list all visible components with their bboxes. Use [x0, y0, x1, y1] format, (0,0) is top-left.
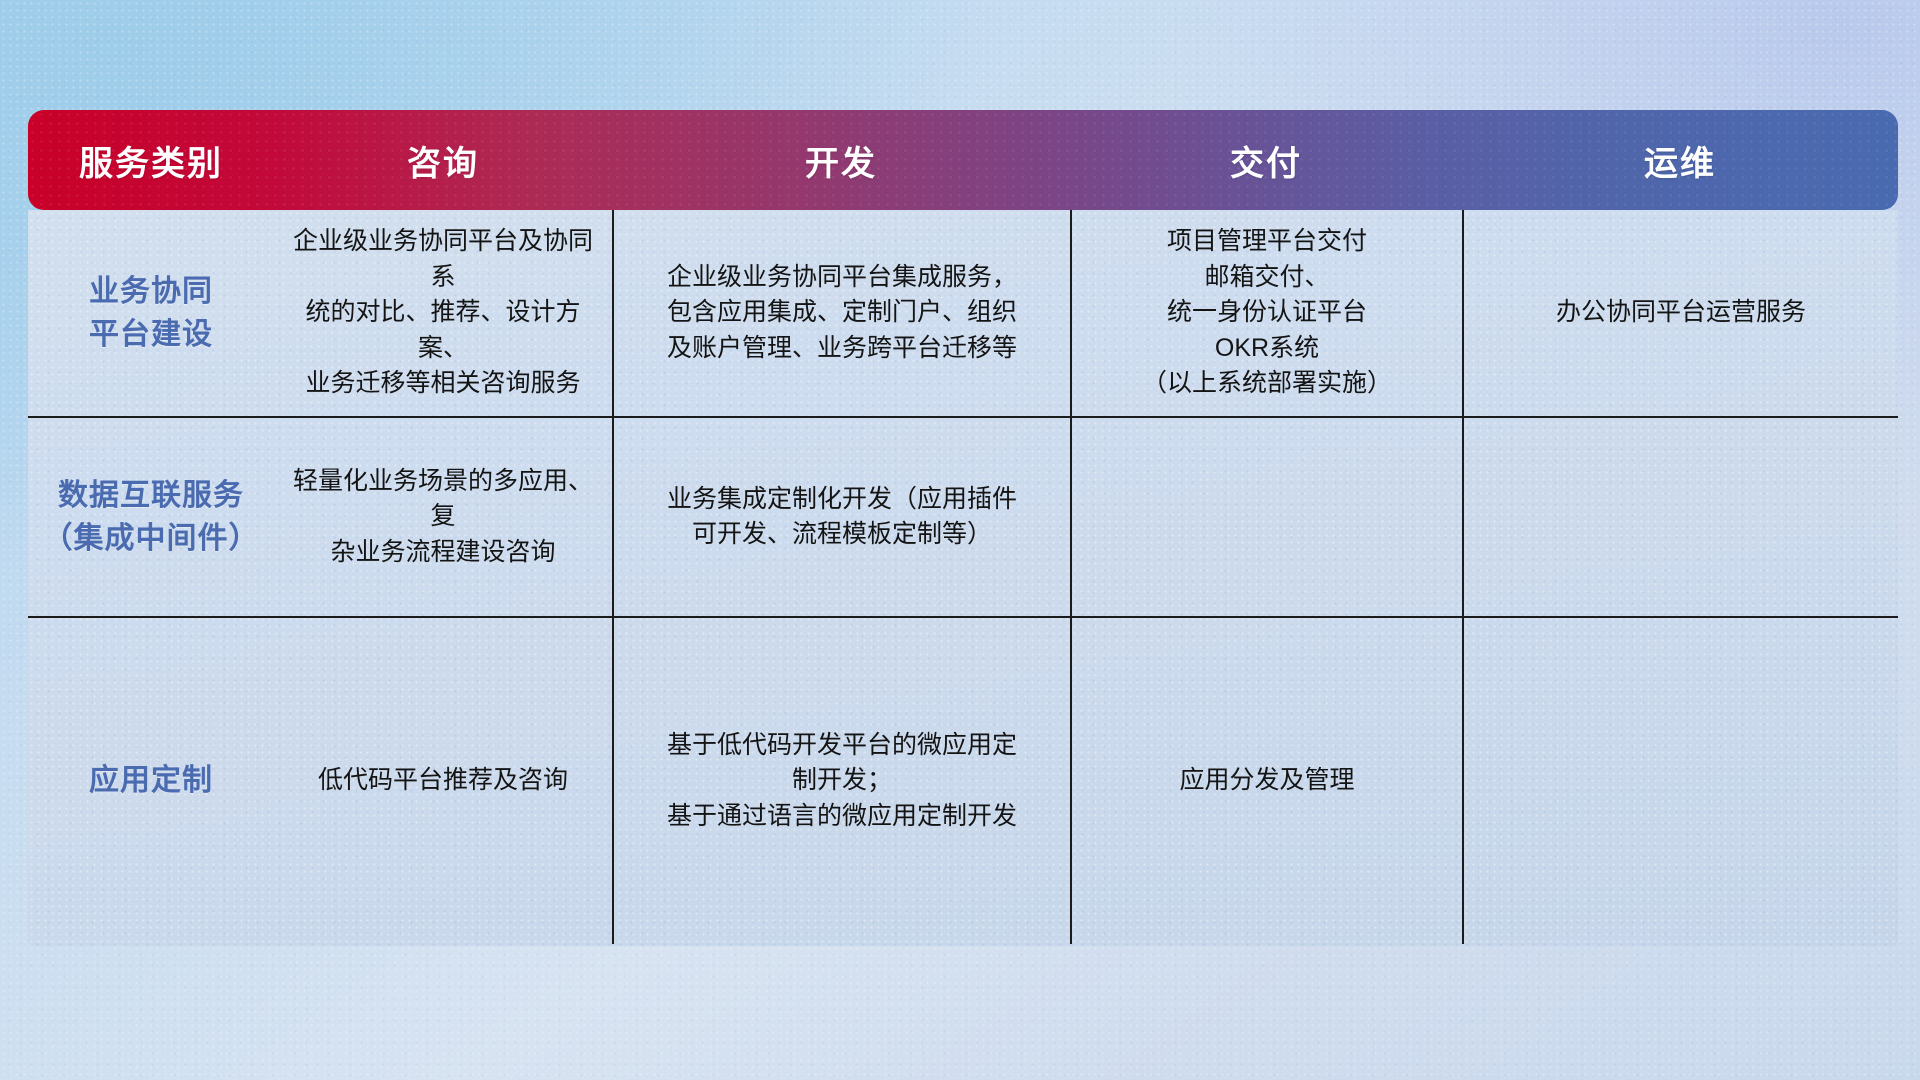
table-header-row: 服务类别 咨询 开发 交付 运维: [28, 110, 1898, 210]
cell-operations: [1462, 418, 1898, 616]
cell-consulting: 企业级业务协同平台及协同系 统的对比、推荐、设计方案、 业务迁移等相关咨询服务: [274, 210, 612, 416]
table-header-cell-development: 开发: [612, 110, 1070, 210]
cell-consulting: 轻量化业务场景的多应用、复 杂业务流程建设咨询: [274, 418, 612, 616]
cell-development: 基于低代码开发平台的微应用定 制开发； 基于通过语言的微应用定制开发: [612, 618, 1070, 944]
table-header-label: 运维: [1644, 136, 1716, 185]
table-header-label: 交付: [1230, 136, 1302, 185]
table-header-cell-consulting: 咨询: [274, 110, 612, 210]
table-body: 业务协同 平台建设 企业级业务协同平台及协同系 统的对比、推荐、设计方案、 业务…: [28, 210, 1898, 946]
table-header-label: 咨询: [407, 136, 479, 185]
table-header-label: 开发: [805, 136, 877, 185]
table-header-label: 服务类别: [79, 136, 223, 185]
table-header-cell-service-category: 服务类别: [28, 110, 274, 210]
table-header-cell-operations: 运维: [1462, 110, 1898, 210]
table-row: 应用定制 低代码平台推荐及咨询 基于低代码开发平台的微应用定 制开发； 基于通过…: [28, 616, 1898, 944]
table-row: 数据互联服务 （集成中间件） 轻量化业务场景的多应用、复 杂业务流程建设咨询 业…: [28, 416, 1898, 616]
row-category-label: 应用定制: [28, 618, 274, 944]
cell-consulting: 低代码平台推荐及咨询: [274, 618, 612, 944]
table-header-cell-delivery: 交付: [1070, 110, 1462, 210]
row-category-label: 业务协同 平台建设: [28, 210, 274, 416]
cell-delivery: 应用分发及管理: [1070, 618, 1462, 944]
cell-development: 业务集成定制化开发（应用插件 可开发、流程模板定制等）: [612, 418, 1070, 616]
service-category-table: 服务类别 咨询 开发 交付 运维 业务协同 平台建设 企业级业务协同平台及协同系…: [28, 110, 1898, 946]
cell-delivery: [1070, 418, 1462, 616]
table-row: 业务协同 平台建设 企业级业务协同平台及协同系 统的对比、推荐、设计方案、 业务…: [28, 210, 1898, 416]
cell-operations: 办公协同平台运营服务: [1462, 210, 1898, 416]
cell-operations: [1462, 618, 1898, 944]
cell-delivery: 项目管理平台交付 邮箱交付、 统一身份认证平台 OKR系统 （以上系统部署实施）: [1070, 210, 1462, 416]
row-category-label: 数据互联服务 （集成中间件）: [28, 418, 274, 616]
cell-development: 企业级业务协同平台集成服务， 包含应用集成、定制门户、组织 及账户管理、业务跨平…: [612, 210, 1070, 416]
